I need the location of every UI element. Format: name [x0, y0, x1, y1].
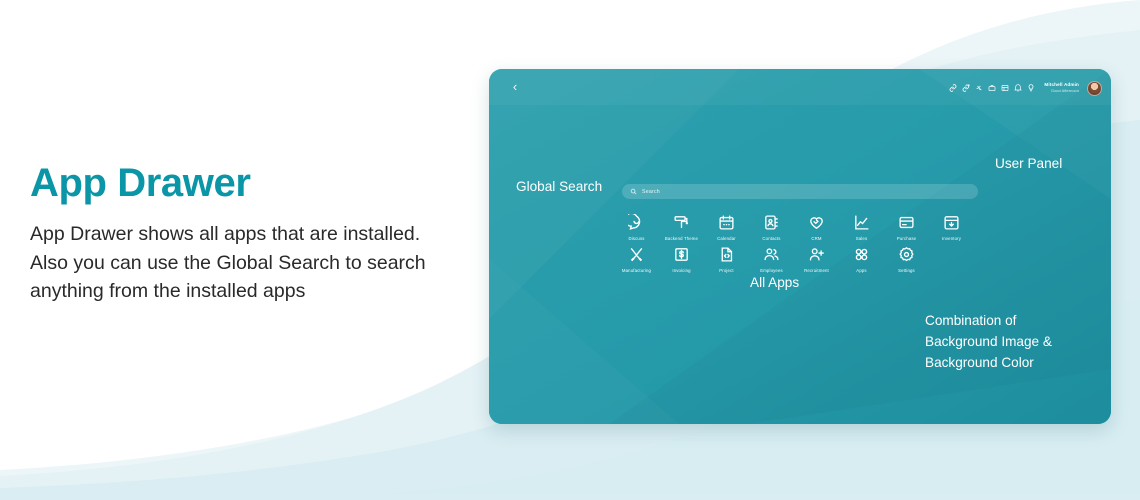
annotation-background: Combination of Background Image & Backgr… — [925, 310, 1052, 373]
app-label: Purchase — [897, 236, 916, 241]
app-item-manufacturing[interactable]: Manufacturing — [614, 241, 659, 273]
discuss-chat-icon — [628, 212, 645, 233]
app-label: Invoicing — [672, 268, 690, 273]
annotation-label: User Panel — [995, 156, 1062, 171]
app-label: Inventory — [942, 236, 961, 241]
slide-stage: App Drawer App Drawer shows all apps tha… — [0, 0, 1140, 500]
annotation-label: Global Search — [516, 179, 602, 194]
user-name-block[interactable]: Mitchell Admin Good Afternoon — [1044, 83, 1079, 93]
app-item-purchase[interactable]: Purchase — [884, 209, 929, 241]
annotation-label-line1: Combination of — [925, 310, 1052, 331]
line-chart-icon — [853, 212, 870, 233]
calendar-icon — [718, 212, 735, 233]
user-panel[interactable]: Mitchell Admin Good Afternoon — [949, 78, 1102, 98]
avatar[interactable] — [1087, 81, 1102, 96]
gear-icon — [898, 244, 915, 265]
app-item-backend-theme[interactable]: Backend Theme — [659, 209, 704, 241]
search-input[interactable]: Search — [622, 184, 978, 199]
user-panel-icons[interactable] — [949, 84, 1035, 92]
app-item-sales[interactable]: Sales — [839, 209, 884, 241]
search-icon — [630, 188, 637, 195]
paint-roller-icon — [673, 212, 690, 233]
annotation-global-search: Global Search — [516, 178, 602, 196]
chevron-left-icon[interactable]: ‹ — [508, 79, 522, 95]
grid-dots-icon — [853, 244, 870, 265]
left-copy-block: App Drawer App Drawer shows all apps tha… — [30, 160, 430, 306]
app-label: CRM — [811, 236, 821, 241]
app-item-contacts[interactable]: Contacts — [749, 209, 794, 241]
dollar-box-icon — [673, 244, 690, 265]
app-label: Apps — [856, 268, 866, 273]
user-greeting: Good Afternoon — [1044, 89, 1079, 93]
annotation-user-panel: User Panel — [995, 155, 1062, 173]
briefcase-icon[interactable] — [988, 84, 996, 92]
link-icon[interactable] — [949, 84, 957, 92]
users-icon — [763, 244, 780, 265]
app-item-settings[interactable]: Settings — [884, 241, 929, 273]
app-label: Backend Theme — [665, 236, 698, 241]
page-title: App Drawer — [30, 160, 430, 206]
app-label: Calendar — [717, 236, 736, 241]
app-item-invoicing[interactable]: Invoicing — [659, 241, 704, 273]
code-file-icon — [718, 244, 735, 265]
annotation-label: All Apps — [750, 275, 799, 290]
address-book-icon — [763, 212, 780, 233]
app-grid-row-2: Manufacturing Invoicing — [614, 241, 994, 273]
annotation-label-line3: Background Color — [925, 352, 1052, 373]
app-label: Settings — [898, 268, 915, 273]
app-item-crm[interactable]: CRM — [794, 209, 839, 241]
user-plus-icon — [808, 244, 825, 265]
app-item-apps[interactable]: Apps — [839, 241, 884, 273]
bell-icon[interactable] — [1014, 84, 1022, 92]
app-label: Recruitment — [804, 268, 829, 273]
app-label: Discuss — [628, 236, 644, 241]
app-label: Employees — [760, 268, 783, 273]
app-label: Sales — [856, 236, 868, 241]
annotation-all-apps: All Apps — [750, 274, 799, 292]
app-grid-row-1: Discuss Backend Theme — [614, 209, 994, 241]
search-placeholder: Search — [642, 189, 660, 195]
app-label: Project — [719, 268, 733, 273]
app-item-calendar[interactable]: Calendar — [704, 209, 749, 241]
app-grid: Discuss Backend Theme — [614, 209, 994, 273]
link-badge-icon[interactable] — [962, 84, 970, 92]
page-description: App Drawer shows all apps that are insta… — [30, 220, 430, 306]
app-item-recruitment[interactable]: Recruitment — [794, 241, 839, 273]
app-label: Manufacturing — [622, 268, 651, 273]
credit-card-icon — [898, 212, 915, 233]
annotation-label-line2: Background Image & — [925, 331, 1052, 352]
app-label: Contacts — [762, 236, 780, 241]
inbox-download-icon — [943, 212, 960, 233]
heart-handshake-icon — [808, 212, 825, 233]
grid-icon[interactable] — [1001, 84, 1009, 92]
lightbulb-icon[interactable] — [1027, 84, 1035, 92]
app-item-inventory[interactable]: Inventory — [929, 209, 974, 241]
app-item-project[interactable]: Project — [704, 241, 749, 273]
bug-icon[interactable] — [975, 84, 983, 92]
crossed-tools-icon — [628, 244, 645, 265]
app-item-employees[interactable]: Employees — [749, 241, 794, 273]
app-item-discuss[interactable]: Discuss — [614, 209, 659, 241]
